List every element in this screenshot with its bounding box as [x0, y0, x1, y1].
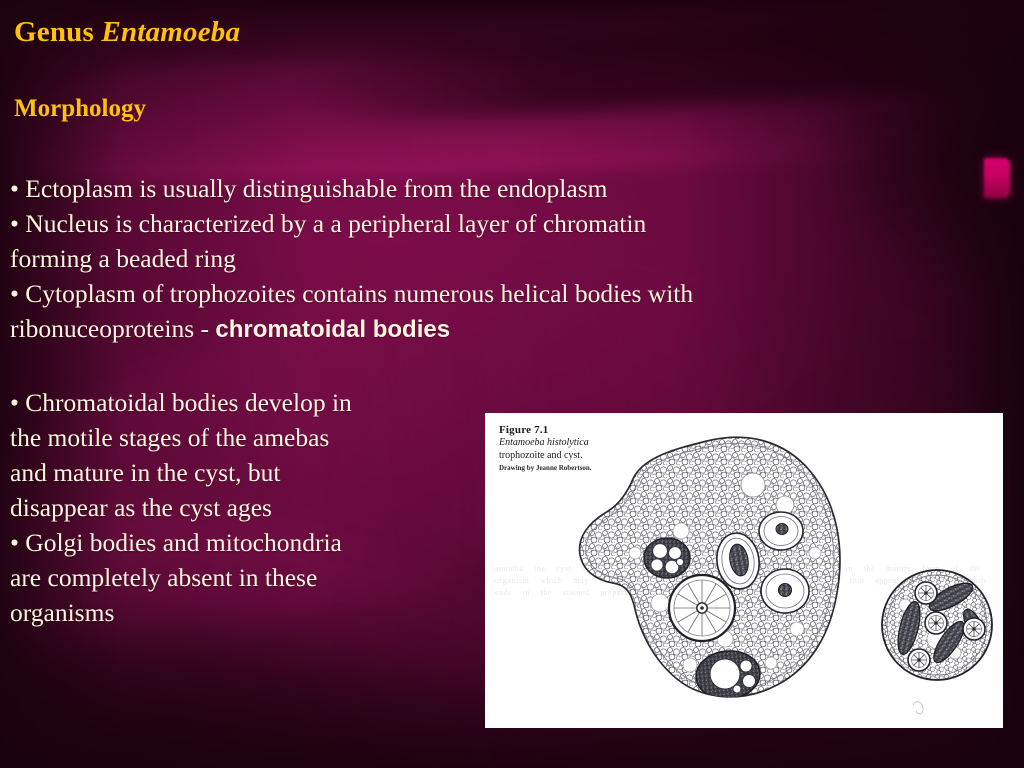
bullet-line: • Ectoplasm is usually distinguishable f… [10, 171, 960, 206]
nucleus [761, 569, 809, 613]
cyst-figure [882, 570, 992, 680]
slide-title-prefix: Genus [14, 16, 101, 48]
bullet-line: organisms [10, 595, 480, 630]
slide-subtitle: Morphology [14, 95, 146, 123]
pencil-mark [913, 702, 923, 714]
bullet-line: • Cytoplasm of trophozoites contains num… [10, 276, 960, 311]
bullet-line-with-term: ribonuceoproteins - chromatoidal bodies [10, 311, 960, 347]
bullet-line: • Chromatoidal bodies develop in [10, 385, 480, 420]
bullet-line: • Nucleus is characterized by a a periph… [10, 206, 960, 241]
slide-title: Genus Entamoeba [14, 16, 240, 49]
bullet-line: are completely absent in these [10, 560, 480, 595]
figure-description: trophozoite and cyst. [499, 450, 592, 462]
presentation-slide: Genus Entamoeba Morphology • Ectoplasm i… [0, 0, 1024, 768]
figure-credit: Drawing by Jeanne Robertson. [499, 464, 592, 473]
food-vacuole-with-erythrocytes [644, 538, 690, 578]
slide-title-genus: Entamoeba [101, 16, 240, 48]
cyst-nucleus [908, 649, 930, 671]
radiate-vacuole [669, 575, 735, 641]
bullet-group-lower: • Chromatoidal bodies develop in the mot… [10, 385, 480, 630]
bullet-line: the motile stages of the amebas [10, 420, 480, 455]
bullet-line-text: ribonuceoproteins - [10, 314, 215, 343]
bullet-group-upper: • Ectoplasm is usually distinguishable f… [10, 171, 960, 347]
cyst-nucleus [925, 612, 947, 634]
bullet-line: • Golgi bodies and mitochondria [10, 525, 480, 560]
figure-species: Entamoeba histolytica [499, 437, 592, 449]
bold-term: chromatoidal bodies [215, 316, 450, 343]
nucleus [759, 512, 803, 550]
trophozoite-figure [580, 437, 840, 702]
figure-caption: Figure 7.1 Entamoeba histolytica trophoz… [499, 424, 592, 472]
cyst-nucleus [915, 582, 937, 604]
figure-number: Figure 7.1 [499, 424, 592, 437]
bullet-line: and mature in the cyst, but [10, 455, 480, 490]
cyst-nucleus [963, 618, 985, 640]
bullet-line: disappear as the cyst ages [10, 490, 480, 525]
bullet-line: forming a beaded ring [10, 241, 960, 276]
figure-card: amoeba the cyst stage within the host in… [485, 413, 1003, 728]
